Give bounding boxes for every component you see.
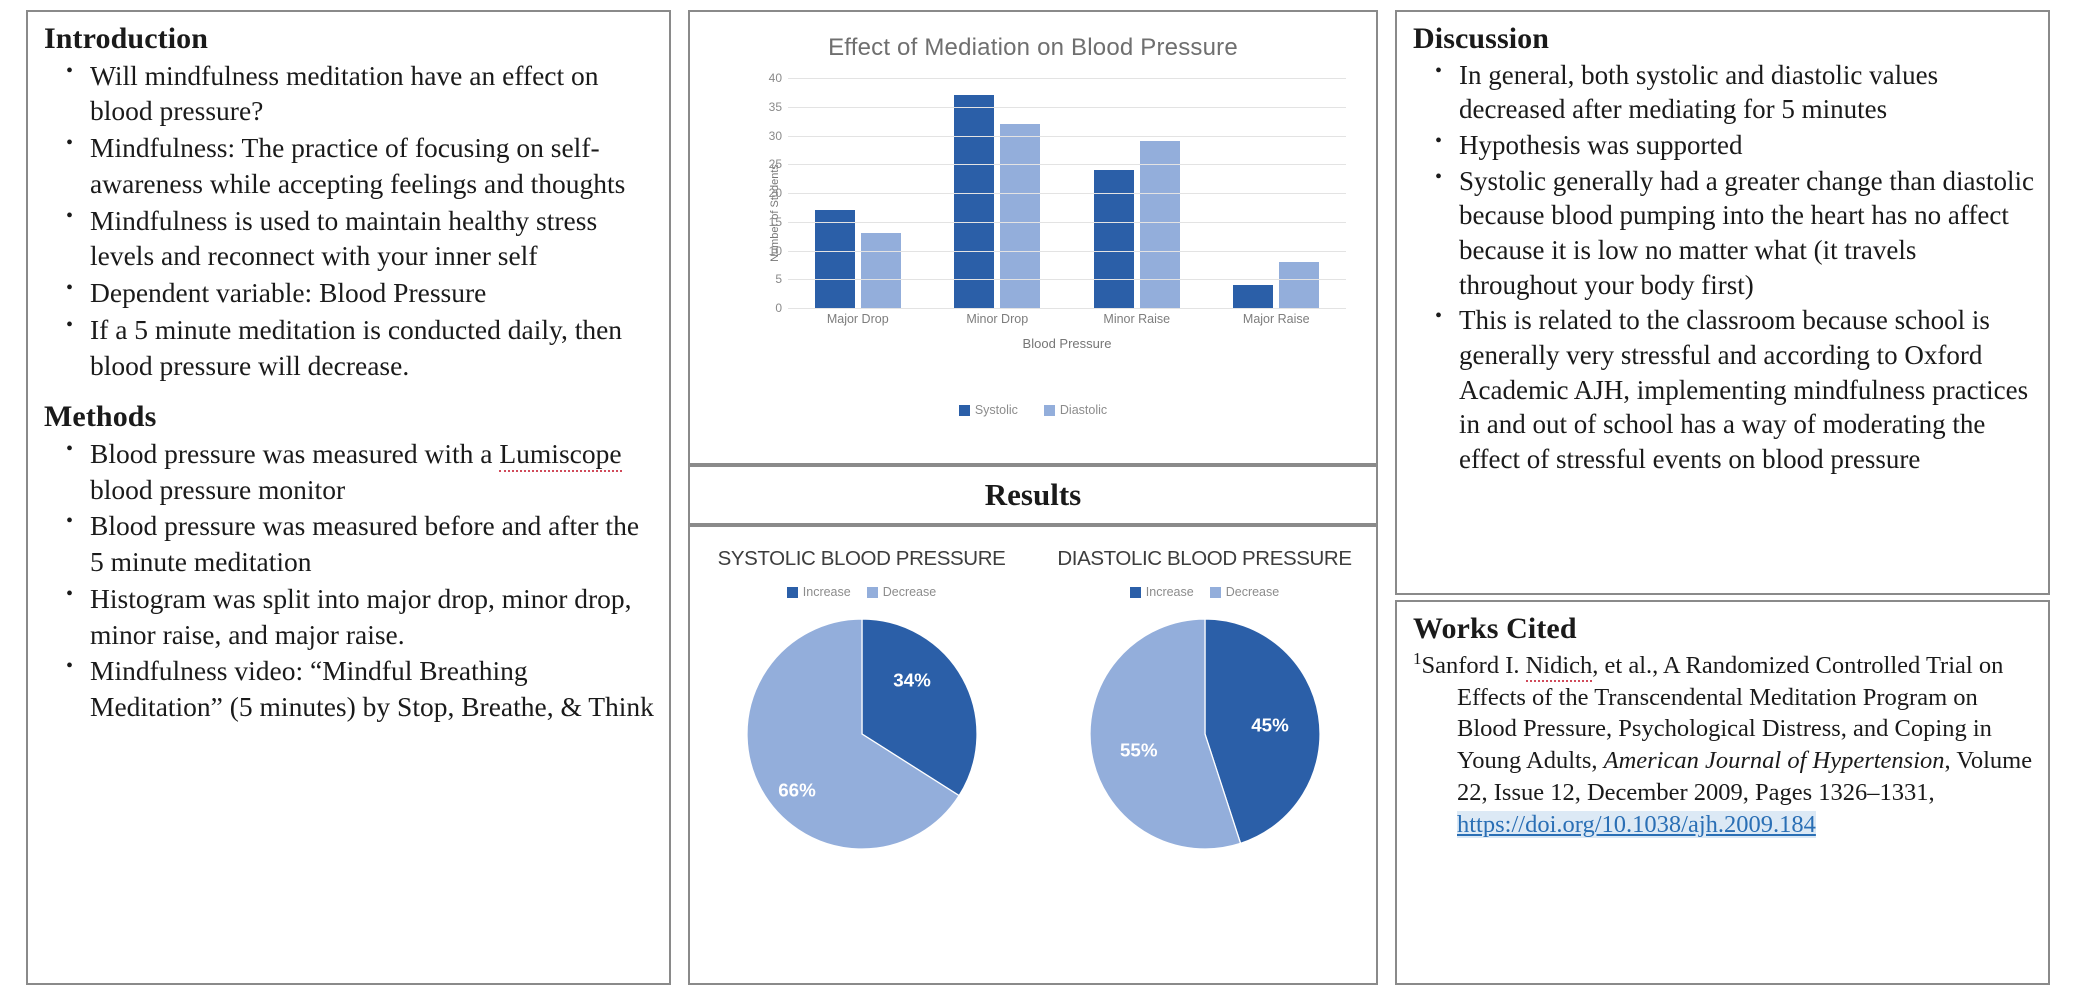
bar-chart-bar	[1094, 170, 1134, 308]
legend-item-decrease: Decrease	[1210, 585, 1280, 599]
legend-swatch-icon	[867, 587, 878, 598]
legend-swatch-icon	[1210, 587, 1221, 598]
list-item: If a 5 minute meditation is conducted da…	[44, 312, 655, 384]
bar-chart-gridline	[788, 78, 1346, 79]
left-column-panel: Introduction Will mindfulness meditation…	[26, 10, 671, 985]
bar-chart-gridline	[788, 279, 1346, 280]
bar-chart-legend: Systolic Diastolic	[704, 403, 1362, 417]
pie-charts-panel: SYSTOLIC BLOOD PRESSURE Increase Decreas…	[688, 525, 1378, 985]
legend-label: Decrease	[883, 585, 937, 599]
list-item: Mindfulness: The practice of focusing on…	[44, 130, 655, 202]
list-item: Will mindfulness meditation have an effe…	[44, 58, 655, 130]
diastolic-slice-label-increase: 45%	[1251, 715, 1289, 736]
legend-label: Increase	[1146, 585, 1194, 599]
bar-chart-bar	[1140, 141, 1180, 308]
diastolic-slice-label-decrease: 55%	[1119, 740, 1157, 761]
systolic-pie-title: SYSTOLIC BLOOD PRESSURE	[718, 547, 1006, 571]
systolic-pie-figure: SYSTOLIC BLOOD PRESSURE Increase Decreas…	[690, 545, 1033, 983]
citation-entry: 1Sanford I. Nidich, et al., A Randomized…	[1413, 648, 2036, 841]
list-item: In general, both systolic and diastolic …	[1413, 58, 2036, 127]
list-item: Blood pressure was measured with a Lumis…	[44, 436, 655, 508]
doi-link[interactable]: https://doi.org/10.1038/ajh.2009.184	[1457, 811, 1816, 838]
diastolic-pie-title: DIASTOLIC BLOOD PRESSURE	[1057, 547, 1351, 571]
bar-chart-bar	[815, 210, 855, 308]
bar-chart-x-tick-label: Major Raise	[1215, 312, 1338, 326]
legend-label: Increase	[803, 585, 851, 599]
diastolic-pie-figure: DIASTOLIC BLOOD PRESSURE Increase Decrea…	[1033, 545, 1376, 983]
results-banner: Results	[688, 465, 1378, 525]
legend-item-diastolic: Diastolic	[1044, 403, 1107, 417]
legend-swatch-icon	[1130, 587, 1141, 598]
discussion-bullet-list: In general, both systolic and diastolic …	[1413, 58, 2036, 477]
legend-item-decrease: Decrease	[867, 585, 937, 599]
legend-label: Systolic	[975, 403, 1018, 417]
methods-bullet-1-prefix: Blood pressure was measured with a	[90, 438, 499, 469]
diastolic-pie-legend: Increase Decrease	[1130, 585, 1279, 599]
legend-item-increase: Increase	[1130, 585, 1194, 599]
pie-charts-row: SYSTOLIC BLOOD PRESSURE Increase Decreas…	[690, 545, 1376, 983]
discussion-heading: Discussion	[1413, 22, 2036, 56]
bar-chart-x-tick-label: Minor Raise	[1075, 312, 1198, 326]
bar-chart-gridline	[788, 193, 1346, 194]
legend-item-systolic: Systolic	[959, 403, 1018, 417]
bar-chart-bar	[861, 233, 901, 308]
citation-journal-title: American Journal of Hypertension	[1604, 747, 1945, 774]
bar-chart-gridline	[788, 251, 1346, 252]
bar-chart-x-axis-label: Blood Pressure	[788, 336, 1346, 351]
bar-chart-gridline	[788, 164, 1346, 165]
legend-swatch-icon	[1044, 405, 1055, 416]
bar-chart-bar	[1000, 124, 1040, 308]
introduction-heading: Introduction	[44, 22, 655, 56]
list-item: Systolic generally had a greater change …	[1413, 164, 2036, 303]
section-spacer	[44, 384, 655, 400]
spellcheck-word-lumiscope: Lumiscope	[499, 438, 621, 472]
bar-chart-y-axis-ticks: 0510152025303540	[748, 78, 782, 308]
list-item: Mindfulness video: “Mindful Breathing Me…	[44, 653, 655, 725]
bar-chart-y-tick-label: 20	[769, 186, 782, 200]
bar-chart-plot-area	[788, 78, 1346, 309]
works-cited-heading: Works Cited	[1413, 612, 2036, 646]
methods-heading: Methods	[44, 400, 655, 434]
bar-chart-y-tick-label: 30	[769, 129, 782, 143]
legend-item-increase: Increase	[787, 585, 851, 599]
methods-bullet-list: Blood pressure was measured with a Lumis…	[44, 436, 655, 725]
bar-chart-gridline	[788, 107, 1346, 108]
diastolic-pie-svg: 45% 55%	[1080, 609, 1330, 859]
bar-chart-y-tick-label: 25	[769, 157, 782, 171]
legend-label: Diastolic	[1060, 403, 1107, 417]
discussion-panel: Discussion In general, both systolic and…	[1395, 10, 2050, 595]
systolic-slice-label-increase: 34%	[893, 670, 931, 691]
bar-chart-x-tick-label: Minor Drop	[936, 312, 1059, 326]
bar-chart-plot-wrapper: Number of Students 0510152025303540 Majo…	[722, 78, 1352, 338]
list-item: Blood pressure was measured before and a…	[44, 508, 655, 580]
systolic-slice-label-decrease: 66%	[778, 780, 816, 801]
bar-chart-gridline	[788, 308, 1346, 309]
bar-chart-y-tick-label: 5	[775, 272, 782, 286]
list-item: Hypothesis was supported	[1413, 128, 2036, 163]
works-cited-panel: Works Cited 1Sanford I. Nidich, et al., …	[1395, 600, 2050, 985]
diastolic-pie-graphic: 45% 55%	[1080, 609, 1330, 864]
results-title: Results	[985, 477, 1081, 513]
introduction-bullet-list: Will mindfulness meditation have an effe…	[44, 58, 655, 384]
bar-chart-gridline	[788, 222, 1346, 223]
citation-author-prefix: Sanford I.	[1422, 652, 1526, 679]
bar-chart-bar	[954, 95, 994, 308]
bar-chart-y-tick-label: 40	[769, 71, 782, 85]
bar-chart-title: Effect of Mediation on Blood Pressure	[704, 34, 1362, 62]
bar-chart-x-tick-label: Major Drop	[796, 312, 919, 326]
list-item: This is related to the classroom because…	[1413, 303, 2036, 476]
bar-chart-figure: Effect of Mediation on Blood Pressure Nu…	[704, 20, 1362, 455]
bar-chart-bar	[1279, 262, 1319, 308]
systolic-pie-graphic: 34% 66%	[737, 609, 987, 864]
legend-swatch-icon	[787, 587, 798, 598]
methods-bullet-1-suffix: blood pressure monitor	[90, 474, 345, 505]
legend-label: Decrease	[1226, 585, 1280, 599]
citation-marker: 1	[1413, 649, 1422, 668]
list-item: Mindfulness is used to maintain healthy …	[44, 203, 655, 275]
bar-chart-y-tick-label: 0	[775, 301, 782, 315]
bar-chart-y-tick-label: 10	[769, 244, 782, 258]
bar-chart-x-axis-ticks: Major DropMinor DropMinor RaiseMajor Rai…	[788, 312, 1346, 326]
bar-chart-y-tick-label: 15	[769, 215, 782, 229]
systolic-pie-svg: 34% 66%	[737, 609, 987, 859]
bar-chart-bar	[1233, 285, 1273, 308]
spellcheck-word-nidich: Nidich	[1526, 652, 1593, 682]
bar-chart-gridline	[788, 136, 1346, 137]
systolic-pie-legend: Increase Decrease	[787, 585, 936, 599]
list-item: Dependent variable: Blood Pressure	[44, 275, 655, 311]
bar-chart-panel: Effect of Mediation on Blood Pressure Nu…	[688, 10, 1378, 465]
bar-chart-y-tick-label: 35	[769, 100, 782, 114]
legend-swatch-icon	[959, 405, 970, 416]
poster-canvas: Introduction Will mindfulness meditation…	[0, 0, 2073, 1000]
list-item: Histogram was split into major drop, min…	[44, 581, 655, 653]
